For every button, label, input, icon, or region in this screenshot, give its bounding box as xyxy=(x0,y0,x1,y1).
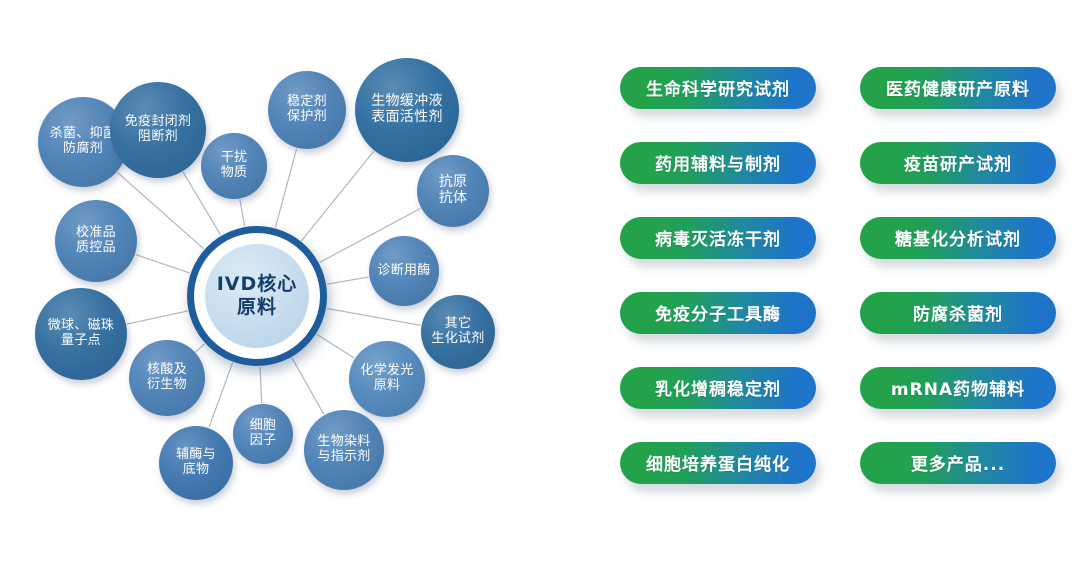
bubble-label: 化学发光 原料 xyxy=(360,364,413,393)
bubble-label: 稳定剂 保护剂 xyxy=(287,95,327,124)
product-category-label: 病毒灭活冻干剂 xyxy=(655,225,781,250)
bubble-node[interactable]: 诊断用酶 xyxy=(369,236,439,306)
product-category-cell: 防腐杀菌剂 xyxy=(852,275,1064,350)
product-category-cell: 乳化增稠稳定剂 xyxy=(612,350,824,425)
product-category-pill[interactable]: 病毒灭活冻干剂 xyxy=(620,217,816,259)
product-category-pill[interactable]: 糖基化分析试剂 xyxy=(860,217,1056,259)
product-category-cell: 疫苗研产试剂 xyxy=(852,125,1064,200)
connector-line xyxy=(196,344,205,352)
page-root: 杀菌、抑菌 防腐剂免疫封闭剂 阻断剂干扰 物质稳定剂 保护剂生物缓冲液 表面活性… xyxy=(0,0,1080,562)
hub-ivd-core-material[interactable]: IVD核心 原料 xyxy=(187,226,327,366)
product-category-cell: 病毒灭活冻干剂 xyxy=(612,200,824,275)
product-category-pill[interactable]: 生命科学研究试剂 xyxy=(620,67,816,109)
connector-line xyxy=(260,367,262,403)
connector-line xyxy=(136,255,190,273)
bubble-label: 校准品 质控品 xyxy=(76,226,116,255)
product-category-pill[interactable]: 免疫分子工具酶 xyxy=(620,292,816,334)
bubble-label: 生物染料 与指示剂 xyxy=(317,435,370,464)
product-category-label: 药用辅料与制剂 xyxy=(655,150,781,175)
product-category-pill[interactable]: 细胞培养蛋白纯化 xyxy=(620,442,816,484)
product-category-label: 免疫分子工具酶 xyxy=(655,300,781,325)
product-category-pill[interactable]: mRNA药物辅料 xyxy=(860,367,1056,409)
connector-line xyxy=(317,334,354,358)
bubble-node[interactable]: 辅酶与 底物 xyxy=(159,426,233,500)
product-category-cell: 糖基化分析试剂 xyxy=(852,200,1064,275)
bubble-label: 其它 生化试剂 xyxy=(431,317,484,346)
product-category-cell: 更多产品... xyxy=(852,425,1064,500)
bubble-node[interactable]: 细胞 因子 xyxy=(233,404,293,464)
product-category-label: 更多产品... xyxy=(911,450,1005,475)
bubble-node[interactable]: 生物缓冲液 表面活性剂 xyxy=(355,58,459,162)
bubble-node[interactable]: 免疫封闭剂 阻断剂 xyxy=(110,82,206,178)
product-category-label: 细胞培养蛋白纯化 xyxy=(646,450,790,475)
bubble-node[interactable]: 稳定剂 保护剂 xyxy=(268,71,346,149)
product-category-cell: 生命科学研究试剂 xyxy=(612,50,824,125)
product-category-cell: 细胞培养蛋白纯化 xyxy=(612,425,824,500)
bubble-label: 辅酶与 底物 xyxy=(176,448,216,477)
connector-line xyxy=(327,309,421,326)
bubble-label: 细胞 因子 xyxy=(250,419,277,448)
product-category-cell: mRNA药物辅料 xyxy=(852,350,1064,425)
bubble-label: 生物缓冲液 表面活性剂 xyxy=(371,94,443,125)
product-category-pill[interactable]: 药用辅料与制剂 xyxy=(620,142,816,184)
connector-line xyxy=(292,358,324,414)
bubble-label: 干扰 物质 xyxy=(221,151,248,180)
bubble-node[interactable]: 抗原 抗体 xyxy=(417,155,489,227)
bubble-label: 诊断用酶 xyxy=(377,264,430,279)
bubble-node[interactable]: 生物染料 与指示剂 xyxy=(304,410,384,490)
bubble-label: 杀菌、抑菌 防腐剂 xyxy=(50,127,117,156)
product-category-pill[interactable]: 防腐杀菌剂 xyxy=(860,292,1056,334)
product-category-cell: 药用辅料与制剂 xyxy=(612,125,824,200)
product-category-pill[interactable]: 医药健康研产原料 xyxy=(860,67,1056,109)
product-category-label: 疫苗研产试剂 xyxy=(904,150,1012,175)
hub-inner-disc: IVD核心 原料 xyxy=(205,244,309,348)
connector-line xyxy=(302,151,374,240)
bubble-node[interactable]: 校准品 质控品 xyxy=(55,200,137,282)
bubble-node[interactable]: 微球、磁珠 量子点 xyxy=(35,288,127,380)
connector-line xyxy=(240,199,245,226)
bubble-node[interactable]: 干扰 物质 xyxy=(201,133,267,199)
bubble-label: 免疫封闭剂 阻断剂 xyxy=(125,115,192,144)
hub-label: IVD核心 原料 xyxy=(217,273,298,319)
product-category-label: 医药健康研产原料 xyxy=(886,75,1030,100)
hub-ring-gap: IVD核心 原料 xyxy=(194,233,320,359)
product-category-pill[interactable]: 更多产品... xyxy=(860,442,1056,484)
product-category-pill[interactable]: 乳化增稠稳定剂 xyxy=(620,367,816,409)
bubble-node[interactable]: 其它 生化试剂 xyxy=(421,295,495,369)
bubble-node[interactable]: 核酸及 衍生物 xyxy=(129,340,205,416)
product-category-cell: 医药健康研产原料 xyxy=(852,50,1064,125)
product-category-label: mRNA药物辅料 xyxy=(891,375,1025,400)
product-category-cell: 免疫分子工具酶 xyxy=(612,275,824,350)
product-category-label: 防腐杀菌剂 xyxy=(913,300,1003,325)
product-category-grid: 生命科学研究试剂医药健康研产原料药用辅料与制剂疫苗研产试剂病毒灭活冻干剂糖基化分… xyxy=(612,50,1064,500)
bubble-node[interactable]: 化学发光 原料 xyxy=(349,341,425,417)
connector-line xyxy=(127,311,188,324)
bubble-label: 抗原 抗体 xyxy=(439,175,468,206)
connector-line xyxy=(327,277,369,284)
product-category-pill[interactable]: 疫苗研产试剂 xyxy=(860,142,1056,184)
bubble-label: 微球、磁珠 量子点 xyxy=(48,319,115,348)
ivd-radial-diagram: 杀菌、抑菌 防腐剂免疫封闭剂 阻断剂干扰 物质稳定剂 保护剂生物缓冲液 表面活性… xyxy=(0,0,580,562)
connector-line xyxy=(209,363,233,428)
product-category-label: 乳化增稠稳定剂 xyxy=(655,375,781,400)
product-category-label: 生命科学研究试剂 xyxy=(646,75,790,100)
bubble-label: 核酸及 衍生物 xyxy=(147,363,187,392)
connector-line xyxy=(275,149,296,228)
product-category-label: 糖基化分析试剂 xyxy=(895,225,1021,250)
